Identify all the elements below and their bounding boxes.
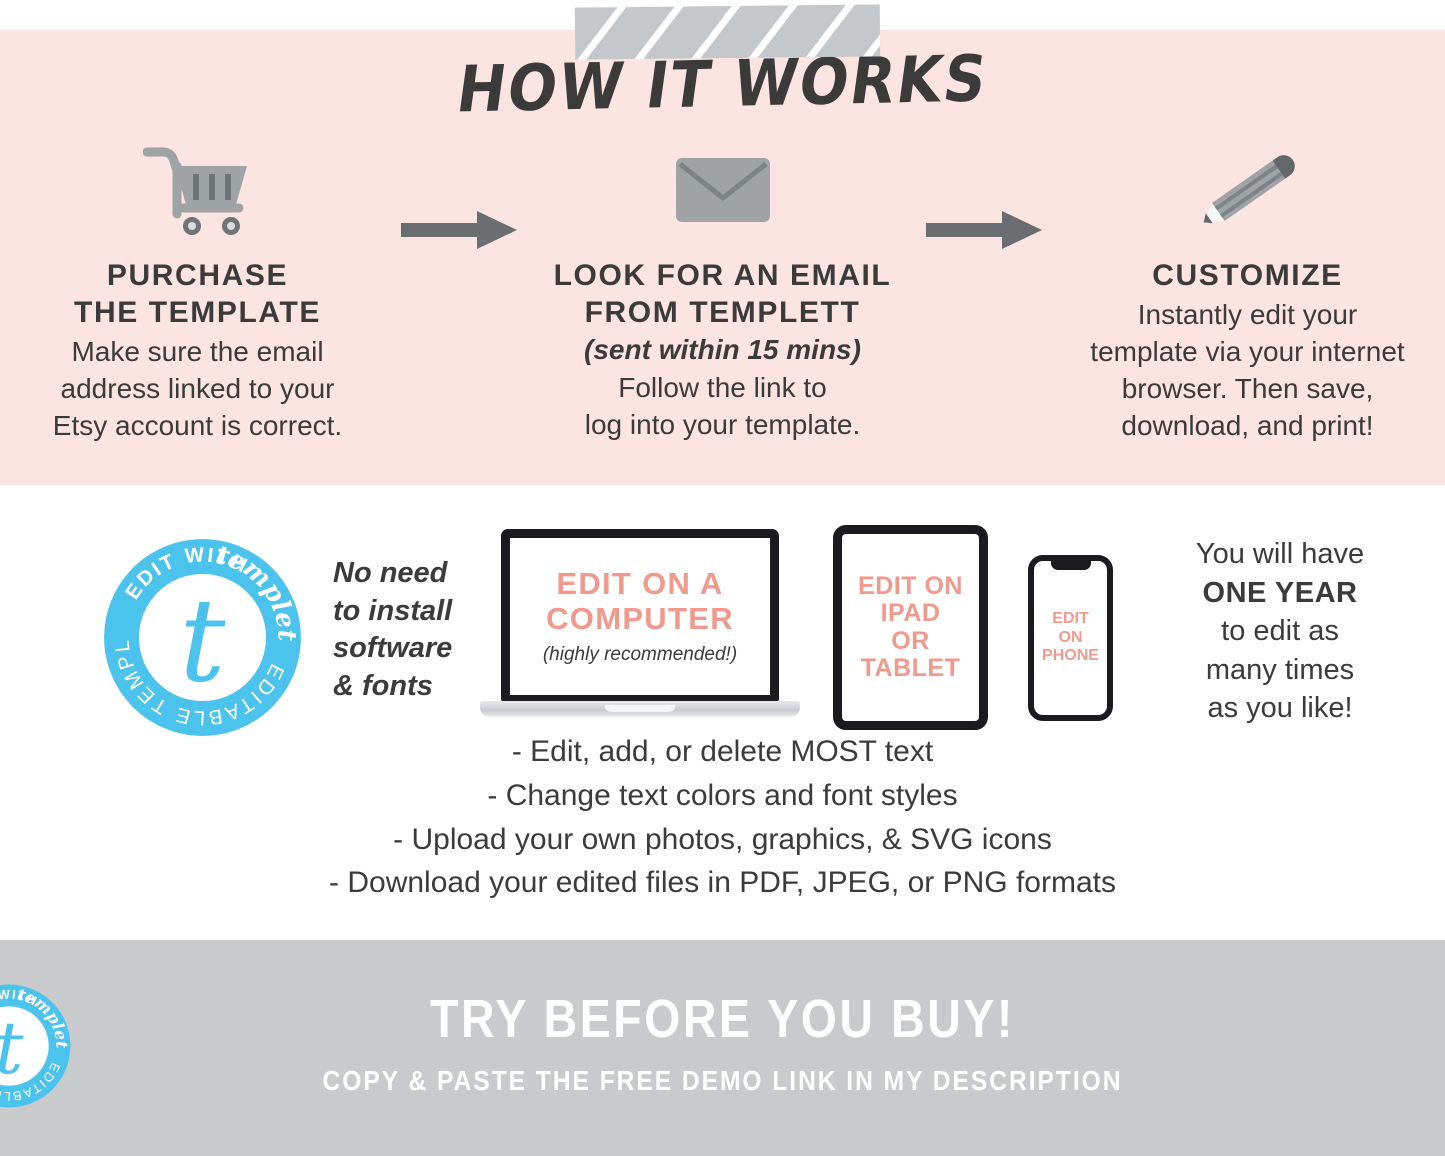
feature-bullet-list: - Edit, add, or delete MOST text - Chang… [0, 730, 1445, 905]
laptop-base [480, 701, 800, 717]
laptop-icon: EDIT ON A COMPUTER (highly recommended!) [480, 529, 800, 717]
devices-row: EDIT WITH templett EDITABLE TEMPLATE t N… [0, 505, 1445, 735]
list-item: - Change text colors and font styles [0, 774, 1445, 818]
step-2-subnote: (sent within 15 mins) [525, 332, 920, 368]
tablet-screen-text: EDIT ON IPAD OR TABLET [858, 573, 963, 683]
arrow-right-icon-2 [920, 180, 1050, 280]
phone-icon: EDIT ON PHONE [1028, 555, 1113, 721]
step-1-body: Make sure the email address linked to yo… [0, 334, 395, 445]
features-section: EDIT WITH templett EDITABLE TEMPLATE t N… [0, 485, 1445, 940]
step-2-heading: LOOK FOR AN EMAIL FROM TEMPLETT [525, 258, 920, 332]
tablet-icon: EDIT ON IPAD OR TABLET [833, 525, 988, 730]
laptop-screen-note: (highly recommended!) [543, 644, 737, 666]
try-before-buy-banner: TRY BEFORE YOU BUY! COPY & PASTE THE FRE… [0, 940, 1445, 1156]
list-item: - Upload your own photos, graphics, & SV… [0, 818, 1445, 862]
laptop-screen-title: EDIT ON A COMPUTER [546, 567, 734, 636]
step-2-body: Follow the link to log into your templat… [525, 370, 920, 444]
steps-row: PURCHASE THE TEMPLATE Make sure the emai… [0, 140, 1445, 445]
list-item: - Download your edited files in PDF, JPE… [0, 861, 1445, 905]
step-3-heading: CUSTOMIZE [1050, 258, 1445, 295]
templett-badge-footer: EDIT WITH templett EDITABLE TEMPLATE t [0, 982, 1390, 1110]
phone-screen: EDIT ON PHONE [1028, 555, 1113, 721]
svg-text:t: t [0, 1006, 24, 1090]
envelope-icon [525, 140, 920, 240]
step-customize: CUSTOMIZE Instantly edit your template v… [1050, 140, 1445, 445]
svg-text:t: t [179, 575, 226, 709]
step-1-heading: PURCHASE THE TEMPLATE [0, 258, 395, 332]
phone-notch [1051, 561, 1091, 570]
step-email: LOOK FOR AN EMAIL FROM TEMPLETT (sent wi… [525, 140, 920, 444]
tablet-screen: EDIT ON IPAD OR TABLET [833, 525, 988, 730]
one-year-highlight: ONE YEAR [1203, 577, 1358, 609]
one-year-text: You will have ONE YEAR to edit as many t… [1130, 535, 1430, 728]
arrow-right-icon [395, 180, 525, 280]
phone-screen-text: EDIT ON PHONE [1042, 610, 1099, 665]
pencil-icon [1050, 140, 1445, 240]
step-purchase: PURCHASE THE TEMPLATE Make sure the emai… [0, 140, 395, 445]
no-install-text: No need to install software & fonts [333, 555, 483, 706]
list-item: - Edit, add, or delete MOST text [0, 730, 1445, 774]
step-3-body: Instantly edit your template via your in… [1050, 297, 1445, 445]
shopping-cart-icon [0, 140, 395, 240]
laptop-screen: EDIT ON A COMPUTER (highly recommended!) [501, 529, 779, 701]
washi-tape-icon [575, 4, 881, 59]
